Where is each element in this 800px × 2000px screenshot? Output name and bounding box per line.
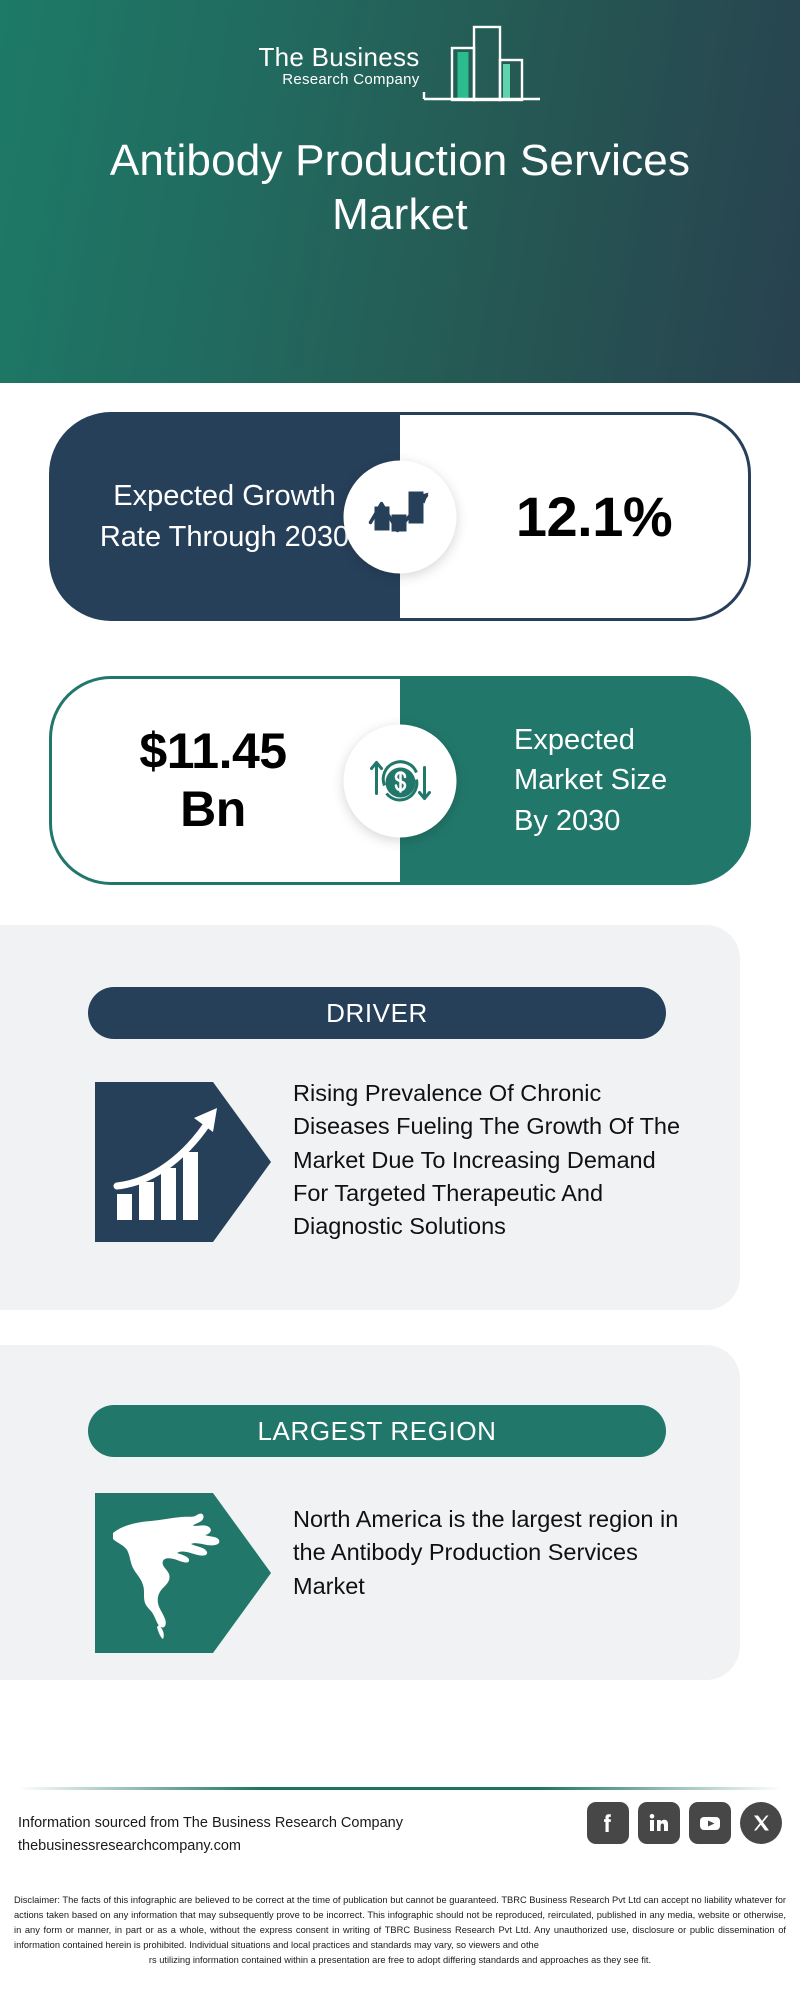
stat-card-growth-rate: Expected Growth Rate Through 2030 12.1% <box>49 412 751 621</box>
driver-icon-badge <box>95 1082 271 1242</box>
social-links <box>587 1802 782 1844</box>
growth-rate-value: 12.1% <box>476 484 672 549</box>
header-banner: The Business Research Company Antibody P… <box>0 0 800 383</box>
growth-rate-label: Expected Growth Rate Through 2030 <box>100 476 350 556</box>
logo-line-2: Research Company <box>282 71 419 90</box>
growth-bars-arrow-icon <box>95 1082 271 1242</box>
facebook-glyph <box>596 1811 620 1835</box>
market-size-icon-badge <box>344 724 457 837</box>
disclaimer-last-line: rs utilizing information contained withi… <box>14 1953 786 1968</box>
disclaimer-text: Disclaimer: The facts of this infographi… <box>14 1893 786 1968</box>
linkedin-glyph <box>647 1811 671 1835</box>
disclaimer-main: Disclaimer: The facts of this infographi… <box>14 1895 786 1950</box>
largest-region-pill-label: LARGEST REGION <box>88 1405 666 1457</box>
footer-divider <box>18 1787 782 1790</box>
page-title: Antibody Production Services Market <box>40 134 760 241</box>
youtube-glyph <box>697 1810 723 1836</box>
bar-chart-logo-mark-icon <box>422 22 542 102</box>
footer-website-link[interactable]: thebusinessresearchcompany.com <box>18 1835 458 1858</box>
growth-chart-icon <box>366 487 434 547</box>
driver-pill-label: DRIVER <box>88 987 666 1039</box>
logo-text-block: The Business Research Company <box>258 44 419 102</box>
facebook-icon[interactable] <box>587 1802 629 1844</box>
x-twitter-glyph <box>749 1811 773 1835</box>
linkedin-icon[interactable] <box>638 1802 680 1844</box>
panel-driver: DRIVER Rising Prevalence Of Chronic Dise… <box>0 925 740 1310</box>
company-logo: The Business Research Company <box>258 22 541 102</box>
panel-largest-region: LARGEST REGION North America is the larg… <box>0 1345 740 1680</box>
footer-source: Information sourced from The Business Re… <box>18 1812 458 1859</box>
north-america-map-icon <box>95 1493 271 1653</box>
largest-region-icon-badge <box>95 1493 271 1653</box>
logo-line-1: The Business <box>258 44 419 71</box>
stat-card-market-size: $11.45 Bn Expected Market Size By 2030 <box>49 676 751 885</box>
largest-region-description: North America is the largest region in t… <box>293 1503 683 1603</box>
footer-source-line-1: Information sourced from The Business Re… <box>18 1812 458 1835</box>
infographic-page: The Business Research Company Antibody P… <box>0 0 800 2000</box>
youtube-icon[interactable] <box>689 1802 731 1844</box>
growth-rate-icon-badge <box>344 460 457 573</box>
market-size-label: Expected Market Size By 2030 <box>468 720 683 840</box>
x-twitter-icon[interactable] <box>740 1802 782 1844</box>
driver-description: Rising Prevalence Of Chronic Diseases Fu… <box>293 1077 683 1244</box>
market-size-value: $11.45 Bn <box>119 723 334 838</box>
dollar-exchange-icon <box>367 750 433 812</box>
